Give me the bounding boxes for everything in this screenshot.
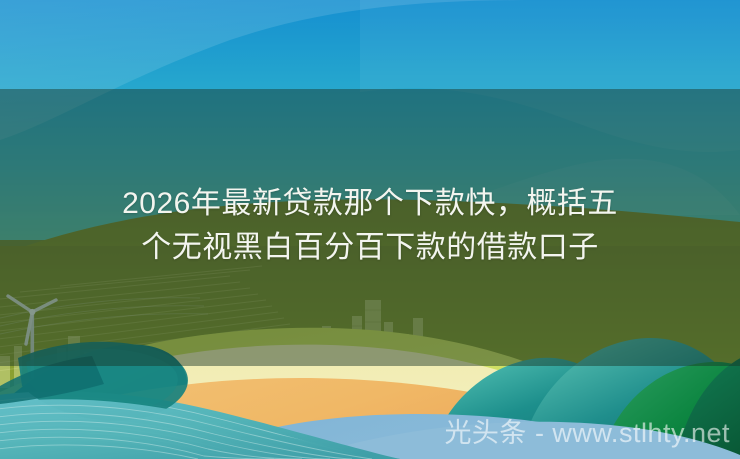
poster-canvas: 2026年最新贷款那个下款快，概括五 个无视黑白百分百下款的借款口子 光头条 -… [0,0,740,459]
turbine-hub [29,309,35,315]
headline-line-2: 个无视黑白百分百下款的借款口子 [28,226,712,270]
site-watermark: 光头条 - www.stlhty.net [444,417,730,449]
headline-line-1: 2026年最新贷款那个下款快，概括五 [28,182,712,226]
page-title: 2026年最新贷款那个下款快，概括五 个无视黑白百分百下款的借款口子 [0,182,740,270]
